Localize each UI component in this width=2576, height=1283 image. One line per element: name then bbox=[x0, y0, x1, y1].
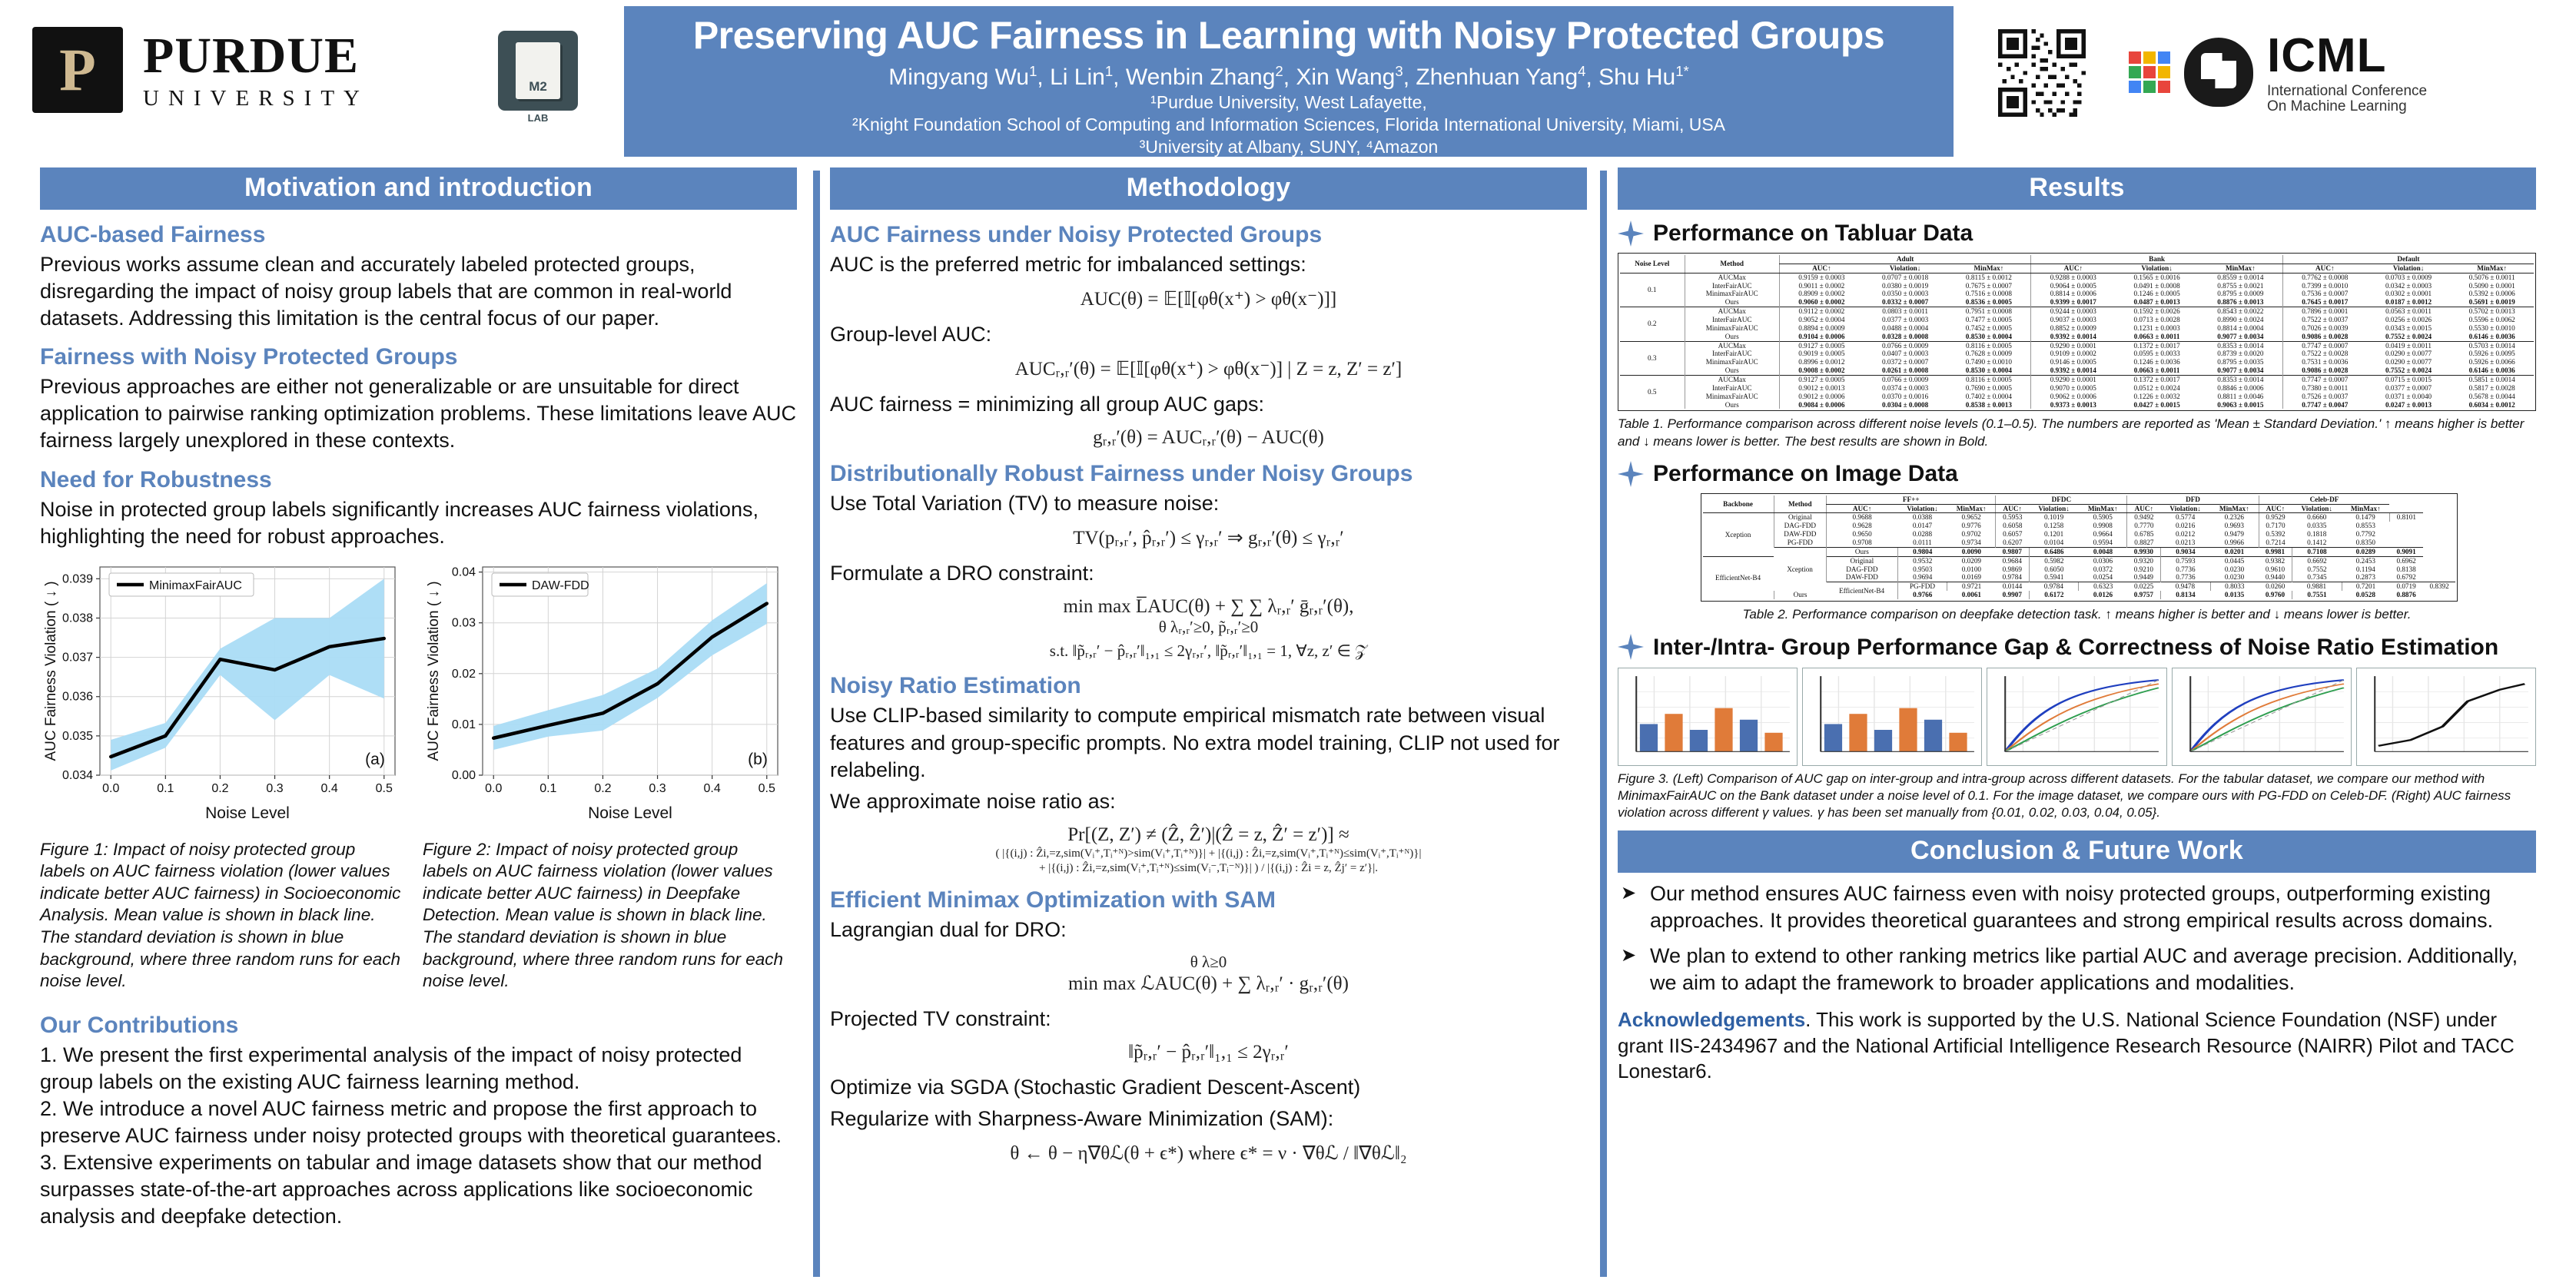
table-cell: 0.9086 ± 0.0028 bbox=[2282, 366, 2366, 375]
table-cell: 0.9011 ± 0.0002 bbox=[1779, 282, 1863, 290]
table-cell: 0.9760 bbox=[2259, 591, 2292, 599]
svg-text:0.036: 0.036 bbox=[62, 690, 93, 703]
table-cell: 0.6146 ± 0.0036 bbox=[2450, 333, 2534, 341]
table-cell: 0.9694 bbox=[1897, 573, 1947, 582]
table-cell: 0.0377 ± 0.0007 bbox=[2367, 384, 2451, 393]
table-cell: 0.0302 ± 0.0001 bbox=[2367, 290, 2451, 298]
table-cell: 0.0372 bbox=[2079, 565, 2127, 574]
table-cell: 0.8827 bbox=[2127, 539, 2160, 547]
table-cell: 0.9399 ± 0.0017 bbox=[2031, 298, 2115, 307]
table-cell: 0.8814 ± 0.0006 bbox=[2031, 290, 2115, 298]
icml-logo: ICML International Conference On Machine… bbox=[2129, 26, 2544, 118]
equation-lagrangian: θ λ≥0 min max ℒAUC(θ) + ∑ λᵣ,ᵣ′ · gᵣ,ᵣ′(… bbox=[830, 953, 1587, 995]
heading-gap-correctness-row: Inter-/Intra- Group Performance Gap & Co… bbox=[1618, 634, 2536, 661]
table-cell: 0.7736 bbox=[2160, 573, 2210, 582]
table-cell: 0.6660 bbox=[2292, 513, 2342, 522]
table-cell: 0.9478 bbox=[2160, 582, 2210, 591]
table-cell: 0.7552 ± 0.0024 bbox=[2367, 333, 2451, 341]
equation-noise-ratio: Pr[(Z, Z′) ≠ (Ẑ, Ẑ′)|(Ẑ = z, Ẑ′ = z′… bbox=[830, 824, 1587, 875]
table-2: BackboneMethodFF++DFDCDFDCeleb-DFAUC↑Vio… bbox=[1703, 496, 2456, 599]
table-row: 0.3AUCMax0.9127 ± 0.00050.0766 ± 0.00090… bbox=[1620, 341, 2534, 350]
table-cell: 0.9766 bbox=[1897, 591, 1947, 599]
table-sub-header: MinMax↑ bbox=[1947, 504, 1996, 513]
svg-text:Noise Level: Noise Level bbox=[588, 804, 672, 822]
table-cell: 0.0380 ± 0.0019 bbox=[1864, 282, 1947, 290]
table-cell: 0.5817 ± 0.0028 bbox=[2450, 384, 2534, 393]
table-cell: 0.9650 bbox=[1827, 530, 1897, 539]
table-cell: 0.8138 bbox=[2389, 565, 2422, 574]
text-fairness-noisy-groups: Previous approaches are either not gener… bbox=[40, 373, 797, 454]
svg-text:0.04: 0.04 bbox=[452, 565, 476, 579]
table-cell-method: AUCMax bbox=[1685, 307, 1779, 316]
table-sub-header: MinMax↑ bbox=[2342, 504, 2389, 513]
table-cell: 0.9084 ± 0.0006 bbox=[1779, 401, 1863, 409]
text-group-level-auc: Group-level AUC: bbox=[830, 321, 1587, 348]
table-cell: 0.9037 ± 0.0003 bbox=[2031, 316, 2115, 324]
equation-tv: TV(pᵣ,ᵣ′, p̂ᵣ,ᵣ′) ≤ γᵣ,ᵣ′ ⇒ gᵣ,ᵣ′(θ) ≤ γ… bbox=[830, 526, 1587, 549]
table-cell: 0.7490 ± 0.0010 bbox=[1947, 358, 2030, 366]
table-cell: 0.7747 ± 0.0047 bbox=[2282, 401, 2366, 409]
table-cell: 0.9693 bbox=[2210, 522, 2259, 530]
table-cell-method: InterFairAUC bbox=[1685, 384, 1779, 393]
table-sub-header: MinMax↑ bbox=[2079, 504, 2127, 513]
table-cell: 0.8876 bbox=[2389, 591, 2422, 599]
table-cell-method: MinimaxFairAUC bbox=[1685, 393, 1779, 401]
table-cell: 0.5530 ± 0.0010 bbox=[2450, 324, 2534, 333]
table-cell: 0.5702 ± 0.0013 bbox=[2450, 307, 2534, 316]
table-cell: 0.0719 bbox=[2389, 582, 2422, 591]
table-cell: 0.9052 ± 0.0004 bbox=[1779, 316, 1863, 324]
table-group-header: Default bbox=[2282, 255, 2534, 264]
table-sub-header: Violation↓ bbox=[1897, 504, 1947, 513]
table-cell: 0.0419 ± 0.0011 bbox=[2367, 341, 2451, 350]
icml-line-1: International Conference bbox=[2267, 84, 2427, 99]
svg-text:0.00: 0.00 bbox=[452, 769, 476, 782]
table-row: XceptionOriginal0.96880.03880.96520.5953… bbox=[1703, 513, 2456, 522]
title-band: Preserving AUC Fairness in Learning with… bbox=[624, 6, 1954, 157]
table-cell: 0.9109 ± 0.0002 bbox=[2031, 350, 2115, 358]
table-1: Noise LevelMethodAdultBankDefaultAUC↑Vio… bbox=[1620, 255, 2534, 409]
table-cell: 0.0144 bbox=[1996, 582, 2029, 591]
svg-text:AUC Fairness Violation ( ↓ ): AUC Fairness Violation ( ↓ ) bbox=[43, 581, 59, 761]
svg-text:0.5: 0.5 bbox=[376, 782, 393, 795]
star-icon bbox=[1618, 220, 1644, 247]
svg-text:Noise Level: Noise Level bbox=[205, 804, 290, 822]
table-row: Ours0.9060 ± 0.00020.0332 ± 0.00070.8536… bbox=[1620, 298, 2534, 307]
heading-dro-fairness: Distributionally Robust Fairness under N… bbox=[830, 461, 1587, 487]
table-cell: 0.0342 ± 0.0003 bbox=[2367, 282, 2451, 290]
heading-tabular-performance: Performance on Tabluar Data bbox=[1653, 220, 1973, 247]
table-cell: 0.8811 ± 0.0046 bbox=[2199, 393, 2282, 401]
table-cell: 0.0290 ± 0.0077 bbox=[2367, 358, 2451, 366]
table-cell: 0.7552 ± 0.0024 bbox=[2367, 366, 2451, 375]
table-cell: 0.9907 bbox=[1996, 591, 2029, 599]
table-cell: 0.7516 ± 0.0008 bbox=[1947, 290, 2030, 298]
table-sub-header: Violation↓ bbox=[2029, 504, 2079, 513]
table-cell: 0.7452 ± 0.0005 bbox=[1947, 324, 2030, 333]
table-cell: 0.0225 bbox=[2127, 582, 2160, 591]
table-cell: 0.7026 ± 0.0039 bbox=[2282, 324, 2366, 333]
table-cell-method: PG-FDD bbox=[1774, 539, 1827, 547]
table-cell: 0.8814 ± 0.0004 bbox=[2199, 324, 2282, 333]
table-cell: 0.9807 bbox=[1996, 547, 2029, 556]
heading-image-performance: Performance on Image Data bbox=[1653, 461, 1958, 487]
star-icon bbox=[1618, 634, 1644, 660]
table-cell: 0.9757 bbox=[2127, 591, 2160, 599]
table-cell: 0.8116 ± 0.0005 bbox=[1947, 341, 2030, 350]
table-cell: 0.8795 ± 0.0009 bbox=[2199, 290, 2282, 298]
table-cell: 0.9734 bbox=[1947, 539, 1996, 547]
m2lab-card-icon: M2 bbox=[516, 42, 560, 99]
equation-projected-tv: ‖p̃ᵣ,ᵣ′ − p̂ᵣ,ᵣ′‖₁,₁ ≤ 2γᵣ,ᵣ′ bbox=[830, 1042, 1587, 1063]
text-dro-constraint: Formulate a DRO constraint: bbox=[830, 560, 1587, 587]
table-cell-group: 0.3 bbox=[1620, 341, 1685, 375]
table-cell: 0.0512 ± 0.0024 bbox=[2115, 384, 2199, 393]
table-cell: 0.5953 bbox=[1996, 513, 2029, 522]
table-cell: 0.0343 ± 0.0015 bbox=[2367, 324, 2451, 333]
table-cell: 0.7170 bbox=[2259, 522, 2292, 530]
table-group-header: Adult bbox=[1779, 255, 2030, 264]
poster-header: PURDUE UNIVERSITY M2 LAB Preserving AUC … bbox=[0, 0, 2576, 160]
table-cell-method: MinimaxFairAUC bbox=[1685, 324, 1779, 333]
table-cell-method: PG-FDD bbox=[1897, 582, 1947, 591]
table-cell: 0.8553 bbox=[2342, 522, 2389, 530]
table-cell: 0.8755 ± 0.0021 bbox=[2199, 282, 2282, 290]
table-cell: 0.8990 ± 0.0024 bbox=[2199, 316, 2282, 324]
table-cell: 0.6034 ± 0.0012 bbox=[2450, 401, 2534, 409]
table-cell: 0.9784 bbox=[2029, 582, 2079, 591]
m2lab-caption: LAB bbox=[498, 112, 578, 124]
table-cell: 0.9392 ± 0.0014 bbox=[2031, 333, 2115, 341]
table-cell: 0.0713 ± 0.0028 bbox=[2115, 316, 2199, 324]
affiliation-1: ¹Purdue University, West Lafayette, bbox=[1150, 91, 1427, 114]
table-cell: 0.7792 bbox=[2342, 530, 2389, 539]
table-cell: 0.9503 bbox=[1897, 565, 1947, 574]
table-cell: 0.1194 bbox=[2342, 565, 2389, 574]
table-cell: 0.7108 bbox=[2292, 547, 2342, 556]
table-cell: 0.0289 bbox=[2342, 547, 2389, 556]
equation-group-auc: AUCᵣ,ᵣ′(θ) = 𝔼[𝕀[φθ(x⁺) > φθ(x⁻)] | Z = … bbox=[830, 357, 1587, 380]
table-sub-header: Violation↓ bbox=[2115, 264, 2199, 273]
table-cell: 0.7675 ± 0.0007 bbox=[1947, 282, 2030, 290]
table-sub-header: Violation↓ bbox=[2160, 504, 2210, 513]
table-cell: 0.9869 bbox=[1996, 565, 2029, 574]
table-cell: 0.1479 bbox=[2342, 513, 2389, 522]
table-row: DAW-FDD0.96500.02880.97020.60570.12010.9… bbox=[1703, 530, 2456, 539]
equation-noise-ratio-l1: Pr[(Z, Z′) ≠ (Ẑ, Ẑ′)|(Ẑ = z, Ẑ′ = z′… bbox=[830, 824, 1587, 846]
table-cell: 0.9721 bbox=[1947, 582, 1996, 591]
table-row: Ours0.97660.00610.99070.61720.01260.9757… bbox=[1703, 591, 2456, 599]
table-row: InterFairAUC0.9012 ± 0.00130.0374 ± 0.00… bbox=[1620, 384, 2534, 393]
table-cell: 0.0260 bbox=[2259, 582, 2292, 591]
table-cell: 0.0216 bbox=[2160, 522, 2210, 530]
table-cell: 0.5090 ± 0.0001 bbox=[2450, 282, 2534, 290]
table-cell: 0.7951 ± 0.0008 bbox=[1947, 307, 2030, 316]
text-lagrangian-dual: Lagrangian dual for DRO: bbox=[830, 917, 1587, 943]
chart-a-canvas: 0.00.10.20.30.40.50.0340.0350.0360.0370.… bbox=[40, 561, 401, 826]
table-cell: 0.9966 bbox=[2210, 539, 2259, 547]
table-cell: 0.8101 bbox=[2389, 513, 2422, 522]
table-cell: 0.8134 bbox=[2160, 591, 2210, 599]
table-cell: 0.0491 ± 0.0008 bbox=[2115, 282, 2199, 290]
figure-3-panel-3 bbox=[1987, 668, 2166, 766]
table-cell: 0.6207 bbox=[1996, 539, 2029, 547]
table-cell: 0.9930 bbox=[2127, 547, 2160, 556]
table-cell: 0.9382 bbox=[2259, 556, 2292, 565]
table-cell: 0.0350 ± 0.0003 bbox=[1864, 290, 1947, 298]
table-cell: 0.7628 ± 0.0009 bbox=[1947, 350, 2030, 358]
table-cell: 0.0306 bbox=[2079, 556, 2127, 565]
table-sub-header: AUC↑ bbox=[1827, 504, 1897, 513]
table-cell: 0.0090 bbox=[1947, 547, 1996, 556]
acknowledgements-label: Acknowledgements bbox=[1618, 1008, 1805, 1031]
purdue-wordmark: PURDUE UNIVERSITY bbox=[143, 31, 369, 110]
table-cell: 0.9881 bbox=[2292, 582, 2342, 591]
table-cell: 0.9908 bbox=[2079, 522, 2127, 530]
table-cell: 0.1246 ± 0.0005 bbox=[2115, 290, 2199, 298]
equation-lagrangian-sub: θ λ≥0 bbox=[830, 953, 1587, 972]
table-cell-group: EfficientNet-B4 bbox=[1703, 556, 1774, 599]
table-2-caption: Table 2. Performance comparison on deepf… bbox=[1618, 606, 2536, 623]
column-divider-1 bbox=[813, 171, 820, 1277]
table-cell: 0.8894 ± 0.0009 bbox=[1779, 324, 1863, 333]
table-cell: 0.5851 ± 0.0014 bbox=[2450, 376, 2534, 384]
table-cell-group: 0.1 bbox=[1620, 273, 1685, 307]
equation-sam: θ ← θ − η∇θℒ(θ + ϵ*) where ϵ* = ν · ∇θℒ … bbox=[830, 1142, 1587, 1165]
heading-need-for-robustness: Need for Robustness bbox=[40, 467, 797, 493]
table-row: PG-FDD0.97080.01110.97340.62070.01040.95… bbox=[1703, 539, 2456, 547]
banner-motivation: Motivation and introduction bbox=[40, 167, 797, 210]
text-projected-tv: Projected TV constraint: bbox=[830, 1006, 1587, 1033]
table-cell: 0.0372 ± 0.0007 bbox=[1864, 358, 1947, 366]
table-cell: 0.0104 bbox=[2029, 539, 2079, 547]
table-row: XceptionOurs0.98040.00900.98070.64860.00… bbox=[1703, 547, 2456, 556]
table-cell-method: Original bbox=[1827, 556, 1897, 565]
conclusion-list: Our method ensures AUC fairness even wit… bbox=[1618, 880, 2536, 996]
table-cell: 0.8559 ± 0.0014 bbox=[2199, 273, 2282, 281]
table-sub-header: MinMax↑ bbox=[1947, 264, 2030, 273]
table-cell: 0.9063 ± 0.0015 bbox=[2199, 401, 2282, 409]
table-cell: 0.1592 ± 0.0026 bbox=[2115, 307, 2199, 316]
column-results: Results Performance on Tabluar Data Nois… bbox=[1618, 167, 2536, 1085]
table-row: 0.1AUCMax0.9159 ± 0.00030.0707 ± 0.00180… bbox=[1620, 273, 2534, 281]
table-cell: 0.9784 bbox=[1996, 573, 2029, 582]
table-sub-header: MinMax↑ bbox=[2199, 264, 2282, 273]
table-cell: 0.0663 ± 0.0011 bbox=[2115, 333, 2199, 341]
purdue-subname: UNIVERSITY bbox=[143, 88, 369, 110]
table-row: InterFairAUC0.9052 ± 0.00040.0377 ± 0.00… bbox=[1620, 316, 2534, 324]
table-cell: 0.5691 ± 0.0019 bbox=[2450, 298, 2534, 307]
table-cell: 0.7593 bbox=[2160, 556, 2210, 565]
table-sub-header: Violation↓ bbox=[1864, 264, 1947, 273]
table-cell: 0.7201 bbox=[2342, 582, 2389, 591]
table-cell: 0.9492 bbox=[2127, 513, 2160, 522]
svg-text:0.5: 0.5 bbox=[759, 782, 775, 795]
table-sub-header: MinMax↑ bbox=[2450, 264, 2534, 273]
table-group-header: Bank bbox=[2031, 255, 2282, 264]
table-cell: 0.5941 bbox=[2029, 573, 2079, 582]
equation-noise-ratio-l2: ( |{(i,j) : Ẑi,=z,sim(Vᵢ⁺,Tᵢ⁺ᴺ)>sim(Vᵢ⁺… bbox=[830, 846, 1587, 860]
table-cell: 0.9077 ± 0.0034 bbox=[2199, 366, 2282, 375]
page-title: Preserving AUC Fairness in Learning with… bbox=[693, 14, 1884, 57]
conclusion-item: Our method ensures AUC fairness even wit… bbox=[1618, 880, 2536, 934]
table-cell: 0.0427 ± 0.0015 bbox=[2115, 401, 2199, 409]
banner-results: Results bbox=[1618, 167, 2536, 210]
table-cell-group: Xception bbox=[1774, 547, 1827, 591]
table-cell-method: AUCMax bbox=[1685, 273, 1779, 281]
equation-noise-ratio-l3: + |{(i,j) : Ẑi,=z,sim(Vᵢ⁺,Tᵢ⁺ᴺ)≤sim(Vᵢ⁻… bbox=[830, 860, 1587, 875]
table-row: InterFairAUC0.9019 ± 0.00050.0407 ± 0.00… bbox=[1620, 350, 2534, 358]
figure-captions: Figure 1: Impact of noisy protected grou… bbox=[40, 833, 797, 993]
table-cell: 0.8876 ± 0.0013 bbox=[2199, 298, 2282, 307]
table-cell: 0.0126 bbox=[2079, 591, 2127, 599]
svg-text:0.03: 0.03 bbox=[452, 616, 476, 629]
column-methodology: Methodology AUC Fairness under Noisy Pro… bbox=[830, 167, 1587, 1175]
table-cell: 0.5076 ± 0.0011 bbox=[2450, 273, 2534, 281]
table-cell: 0.6785 bbox=[2127, 530, 2160, 539]
table-cell: 0.9062 ± 0.0006 bbox=[2031, 393, 2115, 401]
table-cell: 0.6323 bbox=[2079, 582, 2127, 591]
table-cell: 0.8852 ± 0.0009 bbox=[2031, 324, 2115, 333]
chart-b-canvas: 0.00.10.20.30.40.50.000.010.020.030.04No… bbox=[423, 561, 784, 826]
table-cell: 0.7536 ± 0.0007 bbox=[2282, 290, 2366, 298]
table-col-header: Method bbox=[1685, 255, 1779, 273]
table-cell-method: Ours bbox=[1685, 333, 1779, 341]
table-cell: 0.7402 ± 0.0004 bbox=[1947, 393, 2030, 401]
table-cell: 0.9288 ± 0.0003 bbox=[2031, 273, 2115, 281]
table-cell-method: InterFairAUC bbox=[1685, 282, 1779, 290]
table-cell: 0.7522 ± 0.0028 bbox=[2282, 350, 2366, 358]
table-cell: 0.0374 ± 0.0003 bbox=[1864, 384, 1947, 393]
star-icon bbox=[1618, 461, 1644, 487]
table-cell: 0.0487 ± 0.0013 bbox=[2115, 298, 2199, 307]
table-cell: 0.5926 ± 0.0095 bbox=[2450, 350, 2534, 358]
table-cell: 0.0201 bbox=[2210, 547, 2259, 556]
table-cell: 0.0663 ± 0.0011 bbox=[2115, 366, 2199, 375]
table-1-container: Noise LevelMethodAdultBankDefaultAUC↑Vio… bbox=[1618, 253, 2536, 411]
icml-name: ICML bbox=[2267, 31, 2427, 81]
table-cell-method: Original bbox=[1774, 513, 1827, 522]
table-cell: 0.0288 bbox=[1897, 530, 1947, 539]
purdue-shield-icon bbox=[32, 27, 123, 113]
table-sub-header: AUC↑ bbox=[1779, 264, 1863, 273]
table-cell: 0.8392 bbox=[2423, 582, 2456, 591]
icml-line-2: On Machine Learning bbox=[2267, 99, 2427, 114]
table-cell: 0.9070 ± 0.0005 bbox=[2031, 384, 2115, 393]
purdue-name: PURDUE bbox=[143, 31, 369, 81]
table-cell-group: EfficientNet-B4 bbox=[1827, 582, 1897, 599]
text-clip-similarity: Use CLIP-based similarity to compute emp… bbox=[830, 702, 1587, 783]
table-cell: 0.0377 ± 0.0003 bbox=[1864, 316, 1947, 324]
figure-3-panel-1 bbox=[1618, 668, 1798, 766]
table-cell: 0.9529 bbox=[2259, 513, 2292, 522]
table-cell: 0.9244 ± 0.0003 bbox=[2031, 307, 2115, 316]
svg-text:0.037: 0.037 bbox=[62, 651, 93, 664]
table-cell-group: Xception bbox=[1703, 513, 1774, 556]
table-cell: 0.1226 ± 0.0032 bbox=[2115, 393, 2199, 401]
svg-text:0.035: 0.035 bbox=[62, 730, 93, 743]
table-cell: 0.0048 bbox=[2079, 547, 2127, 556]
table-cell: 0.8350 bbox=[2342, 539, 2389, 547]
equation-dro-main-sub: θ λᵣ,ᵣ′≥0, p̃ᵣ,ᵣ′≥0 bbox=[830, 618, 1587, 637]
table-cell: 0.9077 ± 0.0034 bbox=[2199, 333, 2282, 341]
table-col-header: Noise Level bbox=[1620, 255, 1685, 273]
table-col-header: Method bbox=[1774, 496, 1827, 513]
table-cell: 0.0707 ± 0.0018 bbox=[1864, 273, 1947, 281]
table-cell: 0.6050 bbox=[2029, 565, 2079, 574]
table-cell-method: InterFairAUC bbox=[1685, 316, 1779, 324]
heading-fairness-noisy-groups: Fairness with Noisy Protected Groups bbox=[40, 344, 797, 370]
table-sub-header: AUC↑ bbox=[2031, 264, 2115, 273]
table-row: Ours0.9084 ± 0.00060.0304 ± 0.00080.8538… bbox=[1620, 401, 2534, 409]
svg-text:0.4: 0.4 bbox=[704, 782, 721, 795]
table-cell: 0.0388 bbox=[1897, 513, 1947, 522]
table-cell: 0.6792 bbox=[2389, 573, 2422, 582]
icml-wordmark: ICML International Conference On Machine… bbox=[2267, 31, 2427, 114]
table-cell: 0.7214 bbox=[2259, 539, 2292, 547]
table-cell: 0.9628 bbox=[1827, 522, 1897, 530]
table-cell: 0.9290 ± 0.0001 bbox=[2031, 341, 2115, 350]
table-cell-group: 0.5 bbox=[1620, 376, 1685, 409]
table-cell: 0.2326 bbox=[2210, 513, 2259, 522]
table-cell-method: DAW-FDD bbox=[1774, 530, 1827, 539]
table-cell: 0.0488 ± 0.0004 bbox=[1864, 324, 1947, 333]
table-col-header: Backbone bbox=[1703, 496, 1774, 513]
table-cell: 0.6486 bbox=[2029, 547, 2079, 556]
table-sub-header: Violation↓ bbox=[2292, 504, 2342, 513]
table-cell: 0.9804 bbox=[1897, 547, 1947, 556]
table-cell-group: 0.2 bbox=[1620, 307, 1685, 341]
table-cell: 0.0230 bbox=[2210, 565, 2259, 574]
table-row: 0.2AUCMax0.9112 ± 0.00020.0803 ± 0.00110… bbox=[1620, 307, 2534, 316]
table-cell: 0.0247 ± 0.0013 bbox=[2367, 401, 2451, 409]
table-cell: 0.9086 ± 0.0028 bbox=[2282, 333, 2366, 341]
text-auc-based-fairness: Previous works assume clean and accurate… bbox=[40, 251, 797, 332]
figure-3-panel-5 bbox=[2356, 668, 2536, 766]
table-cell: 0.0147 bbox=[1897, 522, 1947, 530]
table-row: Ours0.9008 ± 0.00020.0261 ± 0.00080.8530… bbox=[1620, 366, 2534, 375]
table-sub-header: AUC↑ bbox=[2259, 504, 2292, 513]
table-sub-header: AUC↑ bbox=[2282, 264, 2366, 273]
table-cell: 0.0213 bbox=[2160, 539, 2210, 547]
qr-code-icon[interactable] bbox=[1998, 29, 2086, 117]
table-cell: 0.1019 bbox=[2029, 513, 2079, 522]
figure-2-caption: Figure 2: Impact of noisy protected grou… bbox=[423, 839, 784, 993]
table-1-caption: Table 1. Performance comparison across d… bbox=[1618, 416, 2536, 449]
table-cell: 0.9594 bbox=[2079, 539, 2127, 547]
table-cell: 0.1412 bbox=[2292, 539, 2342, 547]
table-cell: 0.0715 ± 0.0015 bbox=[2367, 376, 2451, 384]
table-cell: 0.5596 ± 0.0062 bbox=[2450, 316, 2534, 324]
table-cell: 0.8530 ± 0.0004 bbox=[1947, 333, 2030, 341]
table-cell: 0.0304 ± 0.0008 bbox=[1864, 401, 1947, 409]
table-cell: 0.1246 ± 0.0036 bbox=[2115, 358, 2199, 366]
equation-dro-st: s.t. ‖p̃ᵣ,ᵣ′ − p̂ᵣ,ᵣ′‖₁,₁ ≤ 2γᵣ,ᵣ′, ‖p̃ᵣ… bbox=[830, 641, 1587, 661]
table-row: MinimaxFairAUC0.8894 ± 0.00090.0488 ± 0.… bbox=[1620, 324, 2534, 333]
table-cell: 0.0370 ± 0.0016 bbox=[1864, 393, 1947, 401]
figure-1-caption: Figure 1: Impact of noisy protected grou… bbox=[40, 839, 401, 993]
table-cell: 0.1258 bbox=[2029, 522, 2079, 530]
table-cell-method: DAG-FDD bbox=[1774, 522, 1827, 530]
table-cell: 0.5774 bbox=[2160, 513, 2210, 522]
purdue-logo: PURDUE UNIVERSITY bbox=[32, 22, 493, 118]
svg-text:0.034: 0.034 bbox=[62, 769, 93, 782]
table-cell: 0.8909 ± 0.0002 bbox=[1779, 290, 1863, 298]
svg-text:0.4: 0.4 bbox=[321, 782, 338, 795]
table-cell-method: DAW-FDD bbox=[1827, 573, 1897, 582]
table-cell: 0.0212 bbox=[2160, 530, 2210, 539]
text-optimize-sgda: Optimize via SGDA (Stochastic Gradient D… bbox=[830, 1074, 1587, 1101]
